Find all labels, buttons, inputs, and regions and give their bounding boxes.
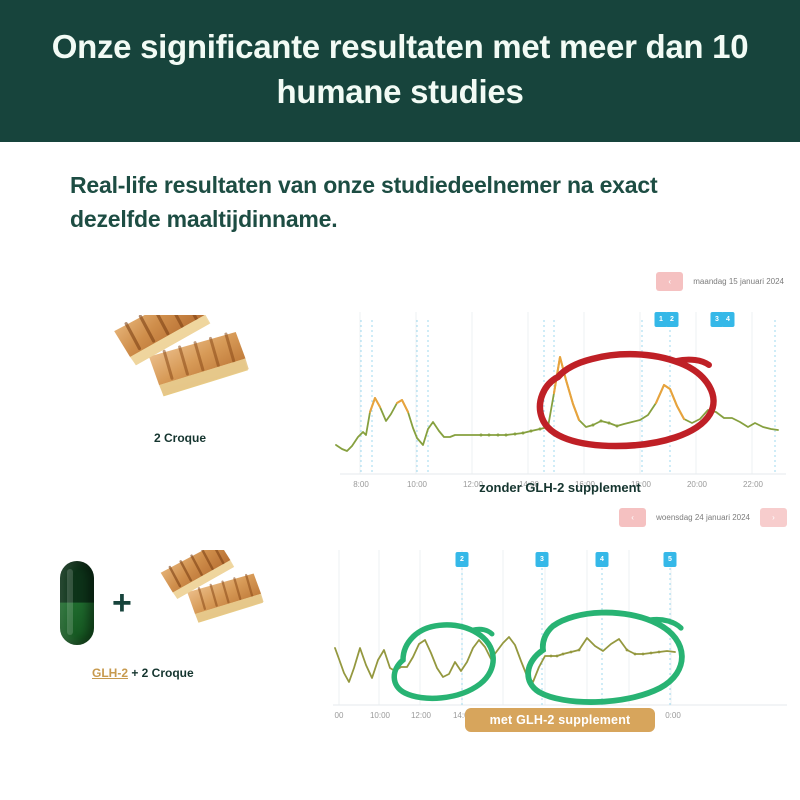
bottom-chart-date: woensdag 24 januari 2024 [656,513,750,522]
page-title: Onze significante resultaten met meer da… [40,24,760,118]
bottom-food-caption: GLH-2 + 2 Croque [60,666,320,680]
glh2-link[interactable]: GLH-2 [92,666,128,680]
subtitle-text: Real-life resultaten van onze studiedeel… [70,168,740,236]
top-food-caption: 2 Croque [95,431,265,445]
poster-root: Onze significante resultaten met meer da… [0,0,800,800]
croque-image-top [95,315,265,425]
bottom-chart-caption: met GLH-2 supplement [465,708,655,732]
marker-badge[interactable]: 2 [456,552,469,567]
x-tick: 10:00 [370,711,390,720]
prev-day-button[interactable]: ‹ [656,272,683,291]
chart-without-supplement: ‹ maandag 15 januari 2024 [330,272,790,502]
bottom-food-row: + [60,545,320,660]
chart-with-supplement: ‹ woensdag 24 januari 2024 › [325,508,795,738]
marker-badge[interactable]: 4 [722,312,735,327]
prev-day-button[interactable]: ‹ [619,508,646,527]
croque-sandwich-icon [146,550,276,655]
bottom-chart-header: ‹ woensdag 24 januari 2024 › [619,508,787,527]
top-chart-plot [330,302,790,502]
marker-badge[interactable]: 3 [536,552,549,567]
x-tick: 12:00 [411,711,431,720]
top-chart-date: maandag 15 januari 2024 [693,277,784,286]
top-chart-header: ‹ maandag 15 januari 2024 [656,272,784,291]
capsule-pill-icon [60,561,94,645]
bottom-food-caption-rest: + 2 Croque [128,666,194,680]
marker-badge[interactable]: 2 [666,312,679,327]
croque-sandwich-icon [95,315,265,425]
bottom-chart-plot [325,540,795,735]
x-tick: 00 [335,711,344,720]
marker-badge[interactable]: 5 [664,552,677,567]
x-tick: 0:00 [665,711,681,720]
top-food-block: 2 Croque [95,315,265,445]
croque-image-bottom [146,550,276,655]
marker-badge[interactable]: 4 [596,552,609,567]
plus-sign: + [112,586,132,620]
top-chart-caption: zonder GLH-2 supplement [330,480,790,495]
bottom-food-block: + [60,545,320,680]
green-highlight-annotation-1 [394,625,493,698]
red-highlight-annotation [540,354,713,446]
header-banner: Onze significante resultaten met meer da… [0,0,800,142]
next-day-button[interactable]: › [760,508,787,527]
